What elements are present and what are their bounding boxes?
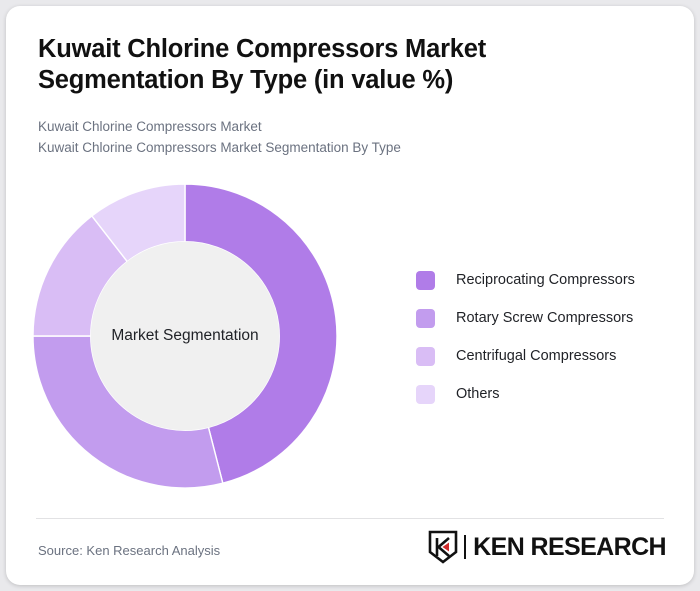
legend-swatch-icon (416, 309, 435, 328)
legend-item-label: Others (456, 386, 500, 402)
logo-wordmark: KEN RESEARCH (473, 533, 666, 562)
chart-area: Market Segmentation Reciprocating Compre… (6, 166, 694, 511)
logo-separator (464, 535, 466, 559)
chart-card: Kuwait Chlorine Compressors Market Segme… (6, 6, 694, 585)
subtitle-block: Kuwait Chlorine Compressors Market Kuwai… (38, 116, 658, 158)
legend-item[interactable]: Rotary Screw Compressors (416, 299, 635, 337)
legend-swatch-icon (416, 347, 435, 366)
legend-item-label: Centrifugal Compressors (456, 348, 616, 364)
page-title: Kuwait Chlorine Compressors Market Segme… (38, 34, 658, 96)
donut-svg (30, 181, 340, 491)
footer-divider (36, 518, 664, 519)
legend-item[interactable]: Others (416, 375, 635, 413)
subtitle-line-2: Kuwait Chlorine Compressors Market Segme… (38, 137, 658, 158)
ken-research-logo: KEN RESEARCH (428, 530, 666, 564)
legend-swatch-icon (416, 385, 435, 404)
legend-item-label: Rotary Screw Compressors (456, 310, 633, 326)
legend-item[interactable]: Reciprocating Compressors (416, 261, 635, 299)
donut-hole (91, 242, 279, 430)
legend-item-label: Reciprocating Compressors (456, 272, 635, 288)
source-note: Source: Ken Research Analysis (38, 543, 220, 558)
chart-legend: Reciprocating CompressorsRotary Screw Co… (416, 261, 635, 413)
subtitle-line-1: Kuwait Chlorine Compressors Market (38, 116, 658, 137)
legend-swatch-icon (416, 271, 435, 290)
ken-research-shield-k-icon (428, 530, 458, 564)
donut-chart: Market Segmentation (30, 181, 340, 491)
legend-item[interactable]: Centrifugal Compressors (416, 337, 635, 375)
